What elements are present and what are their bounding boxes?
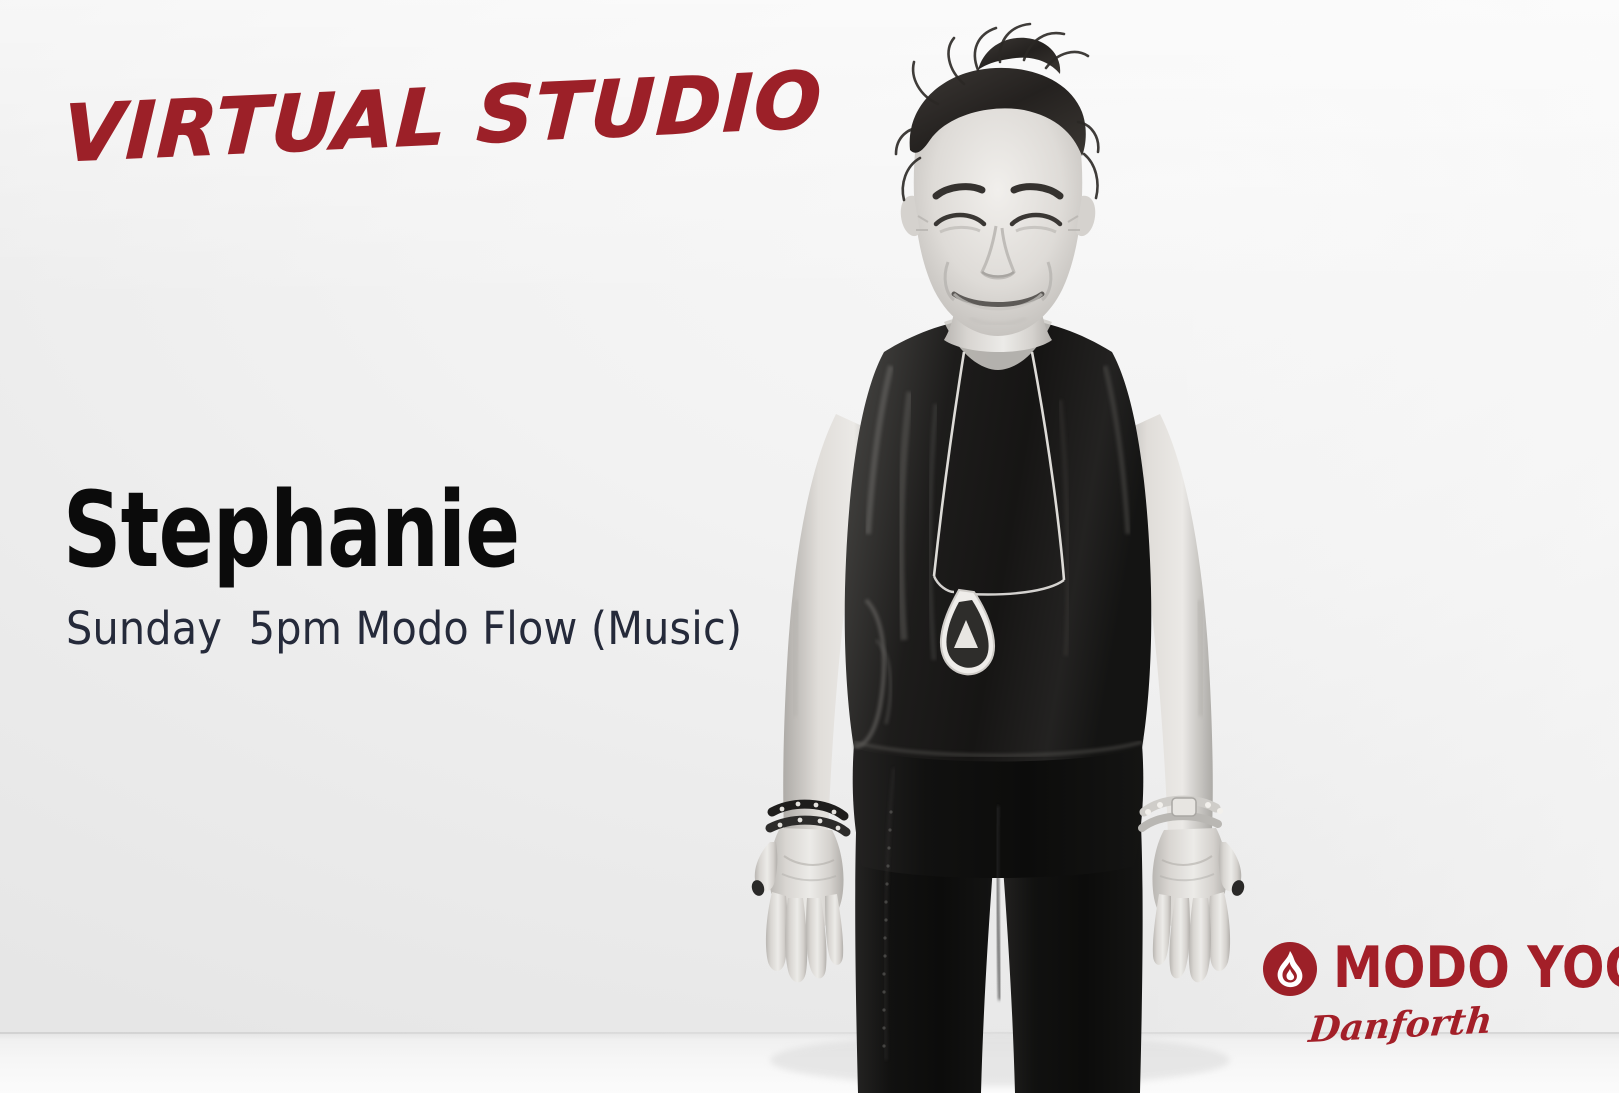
flame-icon: [1263, 942, 1317, 996]
brand-row: MODO YOGA: [1263, 940, 1619, 997]
left-hand: [750, 802, 846, 983]
class-schedule-line: Sunday 5pm Modo Flow (Music): [66, 606, 742, 651]
instructor-name: Stephanie: [63, 478, 519, 582]
virtual-studio-poster: VIRTUAL STUDIO Stephanie Sunday 5pm Modo…: [0, 0, 1619, 1093]
brand-wordmark: MODO YOGA: [1333, 940, 1619, 997]
instructor-photo: [648, 0, 1348, 1093]
brand-location: Danforth: [1307, 1002, 1494, 1047]
brand-lockup: MODO YOGA Danforth: [1263, 940, 1619, 1090]
